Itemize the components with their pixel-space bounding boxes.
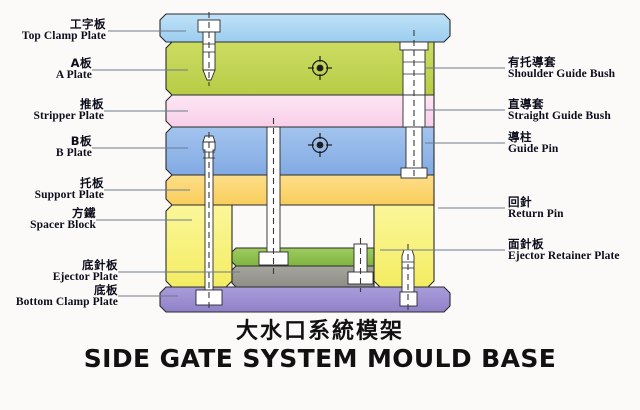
label-support-plate-en: Support Plate (35, 189, 104, 201)
label-straight-guide-bush-cn: 直導套 (508, 98, 611, 110)
label-ejector-retainer-plate-en: Ejector Retainer Plate (508, 250, 620, 262)
label-top-clamp-plate-en: Top Clamp Plate (22, 30, 106, 42)
label-return-pin-cn: 回針 (508, 196, 564, 208)
label-top-clamp-plate-cn: 工字板 (22, 18, 106, 30)
label-ejector-retainer-plate-cn: 面針板 (508, 238, 620, 250)
label-stripper-plate-en: Stripper Plate (34, 110, 105, 122)
label-ejector-retainer-plate: 面針板 Ejector Retainer Plate (508, 238, 620, 262)
label-ejector-plate-cn: 底針板 (53, 259, 118, 271)
label-b-plate: B板 B Plate (56, 135, 92, 159)
label-bottom-clamp-plate-cn: 底板 (16, 284, 118, 296)
label-b-plate-cn: B板 (56, 135, 92, 147)
label-guide-pin: 導柱 Guide Pin (508, 131, 558, 155)
label-bottom-clamp-plate: 底板 Bottom Clamp Plate (16, 284, 118, 308)
title-chinese: 大水口系統模架 (0, 313, 640, 345)
label-shoulder-guide-bush-cn: 有托導套 (508, 56, 615, 68)
label-support-plate-cn: 托板 (35, 177, 104, 189)
plate-stripper (166, 95, 434, 127)
label-spacer-block: 方鐵 Spacer Block (30, 207, 96, 231)
label-spacer-block-cn: 方鐵 (30, 207, 96, 219)
label-return-pin-en: Return Pin (508, 208, 564, 220)
label-ejector-plate: 底針板 Ejector Plate (53, 259, 118, 283)
plate-ejector-retainer (232, 248, 374, 266)
label-shoulder-guide-bush: 有托導套 Shoulder Guide Bush (508, 56, 615, 80)
label-a-plate: A板 A Plate (56, 57, 92, 81)
label-shoulder-guide-bush-en: Shoulder Guide Bush (508, 68, 615, 80)
label-b-plate-en: B Plate (56, 147, 92, 159)
label-straight-guide-bush: 直導套 Straight Guide Bush (508, 98, 611, 122)
label-support-plate: 托板 Support Plate (35, 177, 104, 201)
label-stripper-plate: 推板 Stripper Plate (34, 98, 105, 122)
label-spacer-block-en: Spacer Block (30, 219, 96, 231)
label-bottom-clamp-plate-en: Bottom Clamp Plate (16, 296, 118, 308)
title-english: SIDE GATE SYSTEM MOULD BASE (0, 344, 640, 373)
label-top-clamp-plate: 工字板 Top Clamp Plate (22, 18, 106, 42)
label-guide-pin-cn: 導柱 (508, 131, 558, 143)
spacer-block-left (166, 205, 232, 287)
label-straight-guide-bush-en: Straight Guide Bush (508, 110, 611, 122)
label-a-plate-cn: A板 (56, 57, 92, 69)
label-ejector-plate-en: Ejector Plate (53, 271, 118, 283)
label-return-pin: 回針 Return Pin (508, 196, 564, 220)
label-guide-pin-en: Guide Pin (508, 143, 558, 155)
label-stripper-plate-cn: 推板 (34, 98, 105, 110)
label-a-plate-en: A Plate (56, 69, 92, 81)
